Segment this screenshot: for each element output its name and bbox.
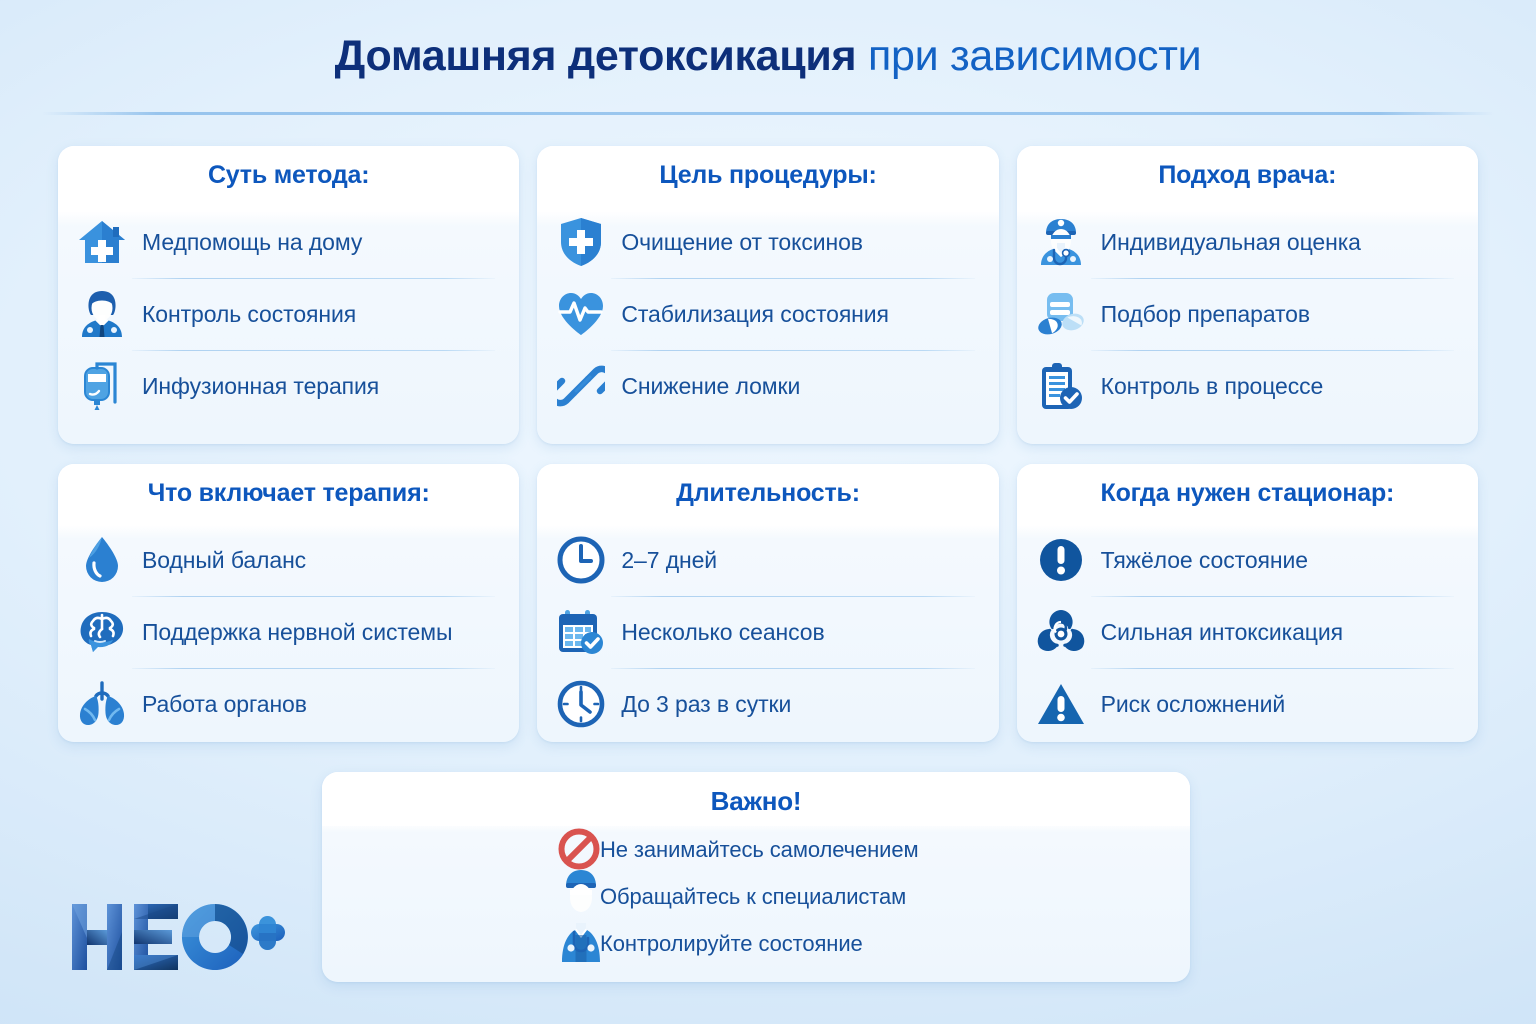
home-medical-icon	[76, 214, 128, 270]
card-cel-procedury: Цель процедуры: Очищение от токсинов	[537, 146, 998, 444]
list-item[interactable]: Сильная интоксикация	[1035, 596, 1456, 668]
list-item-label: До 3 раз в сутки	[621, 691, 791, 717]
doctor-figure-icon	[558, 868, 604, 969]
list-item[interactable]: Стабилизация состояния	[555, 278, 976, 350]
card-title: Цель процедуры:	[537, 146, 998, 204]
card-title: Важно!	[322, 772, 1190, 826]
list-item[interactable]: Контроль в процессе	[1035, 350, 1456, 422]
list-item[interactable]: Тяжёлое состояние	[1035, 524, 1456, 596]
list-item[interactable]: Инфузионная терапия	[76, 350, 497, 422]
card-body: Медпомощь на дому Ко	[58, 204, 519, 444]
chain-link-icon	[555, 358, 607, 414]
page-header: Домашняя детоксикация при зависимости	[0, 0, 1536, 112]
list-item[interactable]: Медпомощь на дому	[76, 206, 497, 278]
list-item[interactable]: Индивидуальная оценка	[1035, 206, 1456, 278]
list-item-label: Тяжёлое состояние	[1101, 547, 1308, 573]
biohazard-icon	[1035, 604, 1087, 660]
list-item[interactable]: Поддержка нервной системы	[76, 596, 497, 668]
shield-plus-icon	[555, 214, 607, 270]
list-item-label: Инфузионная терапия	[142, 373, 379, 399]
clock-ticks-icon	[555, 676, 607, 732]
cards-grid: Суть метода: Медпомощь на дому	[58, 146, 1478, 742]
list-item-label: 2–7 дней	[621, 547, 717, 573]
logo-neo-plus	[70, 898, 286, 981]
card-body: Индивидуальная оценка Подбор препаратов	[1017, 204, 1478, 444]
list-item-label: Контроль в процессе	[1101, 373, 1324, 399]
important-line: Контролируйте состояние	[600, 920, 1190, 967]
list-item[interactable]: До 3 раз в сутки	[555, 668, 976, 740]
pills-capsule-icon	[1035, 286, 1087, 342]
page-title-light: при зависимости	[856, 32, 1201, 80]
exclamation-circle-icon	[1035, 532, 1087, 588]
brain-icon	[76, 604, 128, 660]
card-title: Когда нужен стационар:	[1017, 464, 1478, 522]
list-item-label: Индивидуальная оценка	[1101, 229, 1361, 255]
page-title-bold: Домашняя детоксикация	[335, 32, 857, 80]
card-kogda-nuzhen-stacionar: Когда нужен стационар: Тяжёлое состояние	[1017, 464, 1478, 742]
page-title: Домашняя детоксикация при зависимости	[335, 35, 1202, 78]
list-item-label: Контроль состояния	[142, 301, 356, 327]
card-title: Что включает терапия:	[58, 464, 519, 522]
header-divider	[42, 112, 1494, 115]
iv-drip-icon	[76, 358, 128, 414]
list-item-label: Медпомощь на дому	[142, 229, 362, 255]
list-item-label: Работа органов	[142, 691, 307, 717]
card-dlitelnost: Длительность: 2–7 дней	[537, 464, 998, 742]
list-item[interactable]: Снижение ломки	[555, 350, 976, 422]
warning-triangle-icon	[1035, 676, 1087, 732]
clock-icon	[555, 532, 607, 588]
list-item-label: Водный баланс	[142, 547, 306, 573]
heart-pulse-icon	[555, 286, 607, 342]
card-body: 2–7 дней	[537, 522, 998, 742]
important-body: Не занимайтесь самолечением Обращайтесь …	[322, 826, 1190, 974]
card-title: Подход врача:	[1017, 146, 1478, 204]
list-item-label: Поддержка нервной системы	[142, 619, 452, 645]
lungs-icon	[76, 676, 128, 732]
card-title: Суть метода:	[58, 146, 519, 204]
list-item-label: Сильная интоксикация	[1101, 619, 1343, 645]
doctor-stethoscope-icon	[1035, 214, 1087, 270]
list-item[interactable]: 2–7 дней	[555, 524, 976, 596]
important-line: Не занимайтесь самолечением	[600, 826, 1190, 873]
list-item[interactable]: Подбор препаратов	[1035, 278, 1456, 350]
list-item-label: Несколько сеансов	[621, 619, 824, 645]
doctor-person-icon	[76, 286, 128, 342]
card-title: Длительность:	[537, 464, 998, 522]
card-body: Тяжёлое состояние	[1017, 522, 1478, 742]
card-body: Водный баланс	[58, 522, 519, 742]
list-item-label: Очищение от токсинов	[621, 229, 863, 255]
water-drop-icon	[76, 532, 128, 588]
list-item-label: Снижение ломки	[621, 373, 800, 399]
list-item-label: Риск осложнений	[1101, 691, 1285, 717]
list-item[interactable]: Водный баланс	[76, 524, 497, 596]
clipboard-check-icon	[1035, 358, 1087, 414]
list-item[interactable]: Работа органов	[76, 668, 497, 740]
card-chto-vklyuchaet-terapiya: Что включает терапия: Водный баланс	[58, 464, 519, 742]
list-item[interactable]: Очищение от токсинов	[555, 206, 976, 278]
list-item[interactable]: Риск осложнений	[1035, 668, 1456, 740]
list-item[interactable]: Несколько сеансов	[555, 596, 976, 668]
card-vazhno: Важно! Не занимайтесь сам	[322, 772, 1190, 982]
list-item[interactable]: Контроль состояния	[76, 278, 497, 350]
card-sut-metoda: Суть метода: Медпомощь на дому	[58, 146, 519, 444]
list-item-label: Подбор препаратов	[1101, 301, 1310, 327]
card-podhod-vracha: Подход врача:	[1017, 146, 1478, 444]
list-item-label: Стабилизация состояния	[621, 301, 889, 327]
important-line: Обращайтесь к специалистам	[600, 873, 1190, 920]
card-body: Очищение от токсинов Стабилизация состоя…	[537, 204, 998, 444]
calendar-check-icon	[555, 604, 607, 660]
